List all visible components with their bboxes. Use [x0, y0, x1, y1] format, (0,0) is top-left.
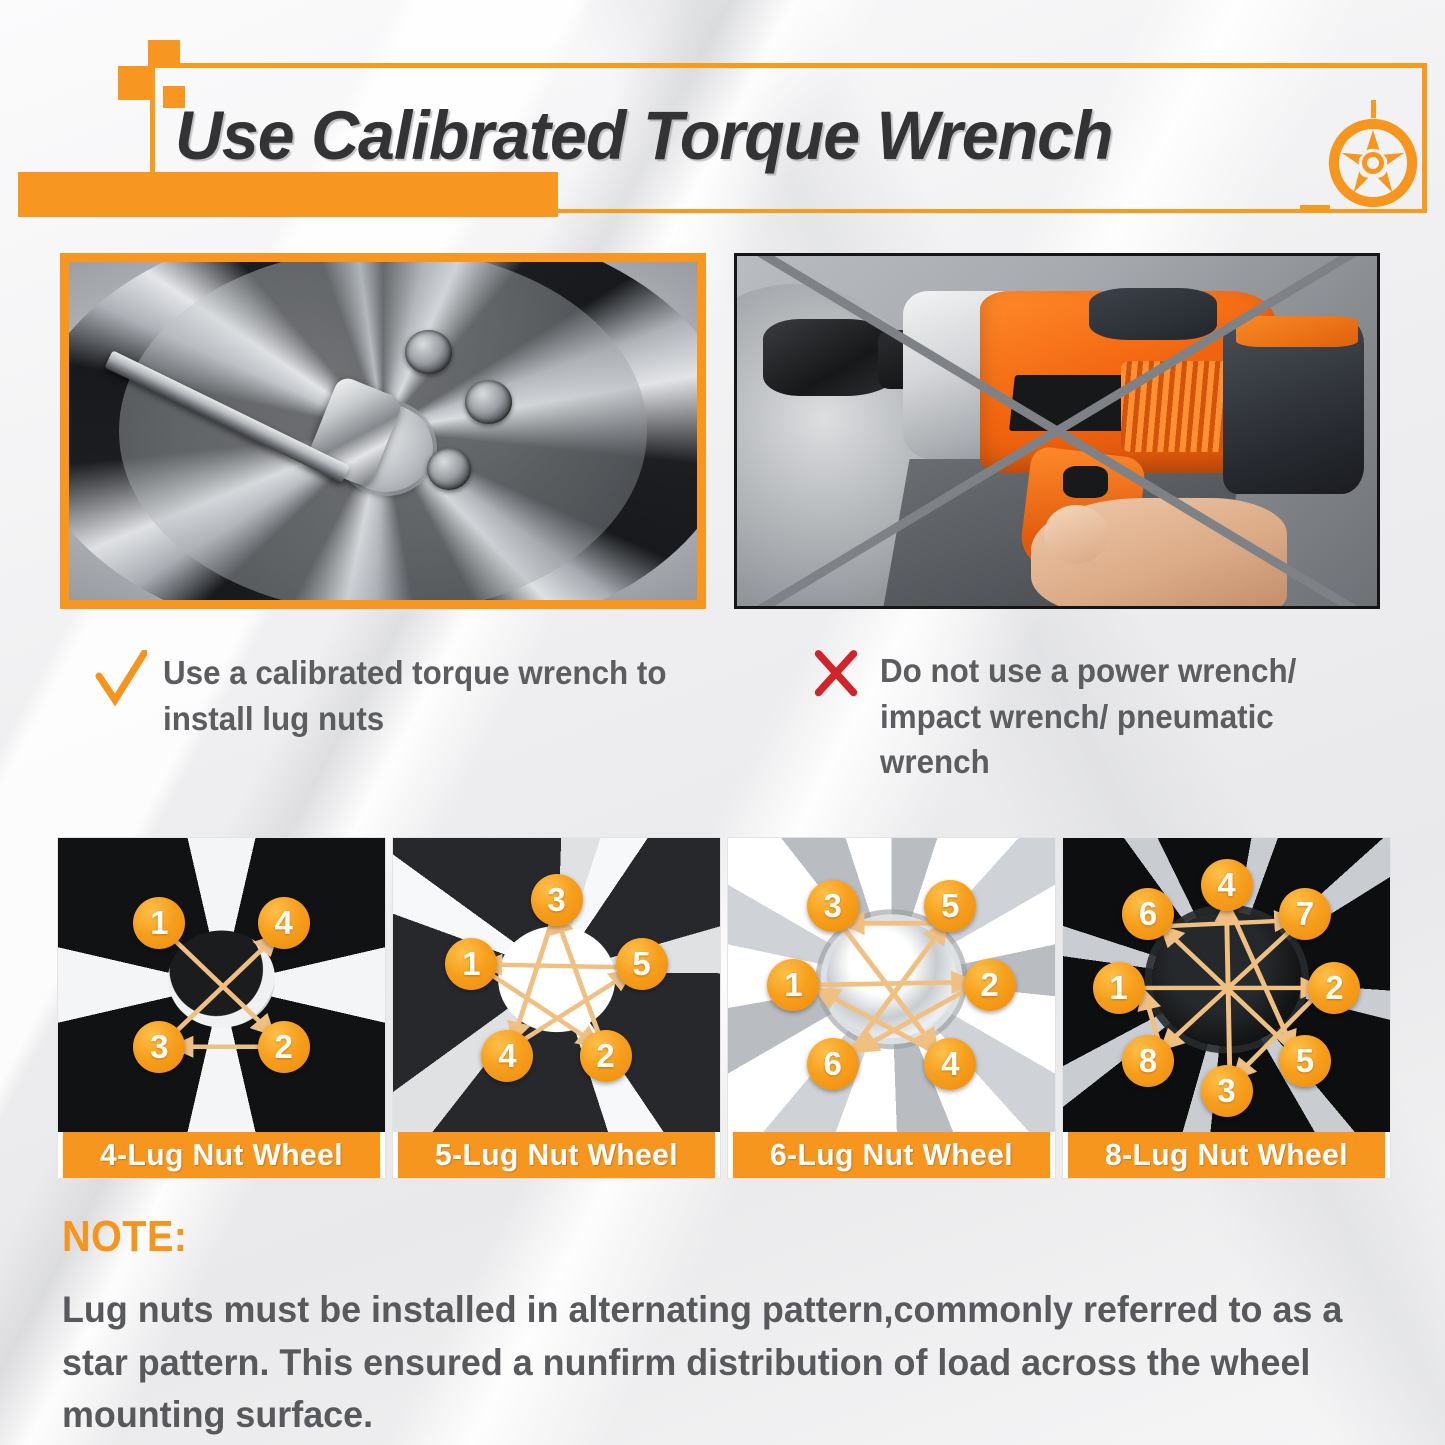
lug-badge: 4 [481, 1030, 533, 1082]
header-frame-top-line [150, 63, 1427, 68]
wheel-diagram-5lug: 3 1 5 4 2 [393, 838, 720, 1132]
lug-badge: 2 [964, 959, 1016, 1011]
header-tick-top [1371, 100, 1376, 118]
lug-badge: 1 [133, 897, 185, 949]
wheel-diagram-8lug: 4 6 7 1 2 8 5 3 [1063, 838, 1390, 1132]
lug-nut [427, 448, 471, 490]
pattern-panel-6lug: 3 5 1 2 6 4 6-Lug Nut Wheel [728, 838, 1055, 1178]
pattern-label-5lug: 5-Lug Nut Wheel [398, 1132, 715, 1178]
lug-badge: 3 [807, 880, 859, 932]
bad-practice-caption: Do not use a power wrench/ impact wrench… [812, 648, 1372, 785]
header-tick-left [1300, 205, 1330, 209]
torque-wrench-photo [60, 253, 706, 609]
lug-badge: 2 [580, 1030, 632, 1082]
pattern-panel-5lug: 3 1 5 4 2 5-Lug Nut Wheel [393, 838, 720, 1178]
lug-badge: 4 [924, 1038, 976, 1090]
note-body: Lug nuts must be installed in alternatin… [62, 1284, 1352, 1442]
note-title: NOTE: [62, 1212, 1259, 1262]
pattern-label-4lug: 4-Lug Nut Wheel [63, 1132, 380, 1178]
lug-badge: 1 [767, 959, 819, 1011]
lug-badge: 3 [531, 874, 583, 926]
x-strike-overlay [737, 256, 1377, 606]
header-frame-right-line [1422, 63, 1427, 213]
x-mark-icon [812, 648, 864, 706]
lug-badge: 6 [1122, 888, 1174, 940]
impact-wrench-photo [734, 253, 1380, 609]
wheel-diagram-4lug: 1 4 3 2 [58, 838, 385, 1132]
infographic-page: Use Calibrated Torque Wrench [0, 0, 1445, 1445]
checkmark-icon [95, 650, 147, 708]
pattern-panel-4lug: 1 4 3 2 4-Lug Nut Wheel [58, 838, 385, 1178]
pattern-label-6lug: 6-Lug Nut Wheel [733, 1132, 1050, 1178]
lug-badge: 8 [1122, 1035, 1174, 1087]
lug-badge: 7 [1279, 888, 1331, 940]
pattern-label-8lug: 8-Lug Nut Wheel [1068, 1132, 1385, 1178]
note-section: NOTE: Lug nuts must be installed in alte… [62, 1212, 1392, 1442]
lug-badge: 6 [807, 1038, 859, 1090]
lug-badge: 3 [1201, 1065, 1253, 1117]
lug-badge: 2 [1308, 962, 1360, 1014]
lug-badge: 2 [258, 1021, 310, 1073]
pattern-panel-8lug: 4 6 7 1 2 8 5 3 8-Lug Nut Wheel [1063, 838, 1390, 1178]
lug-badge: 5 [616, 938, 668, 990]
good-practice-text: Use a calibrated torque wrench to instal… [163, 650, 687, 741]
lug-nut [465, 380, 512, 424]
wheel-diagram-6lug: 3 5 1 2 6 4 [728, 838, 1055, 1132]
header-pixel-block-1 [148, 40, 180, 66]
lug-badge: 3 [133, 1021, 185, 1073]
header-accent-bar [18, 172, 558, 217]
lug-badge: 5 [1279, 1035, 1331, 1087]
lug-badge: 1 [445, 938, 497, 990]
header-frame-bottom-line [556, 209, 1427, 213]
lug-nut [405, 330, 452, 374]
wheel-icon [1327, 117, 1419, 209]
lug-pattern-panels: 1 4 3 2 4-Lug Nut Wheel [58, 838, 1390, 1178]
header-pixel-block-2 [118, 66, 152, 100]
lug-badge: 4 [258, 897, 310, 949]
page-title: Use Calibrated Torque Wrench [175, 96, 1112, 175]
tightening-arrows-4 [58, 838, 385, 1132]
lug-badge: 4 [1201, 859, 1253, 911]
page-header: Use Calibrated Torque Wrench [0, 0, 1445, 240]
lug-badge: 1 [1093, 962, 1145, 1014]
bad-practice-text: Do not use a power wrench/ impact wrench… [880, 648, 1347, 785]
lug-badge: 5 [924, 880, 976, 932]
good-practice-caption: Use a calibrated torque wrench to instal… [95, 650, 715, 741]
